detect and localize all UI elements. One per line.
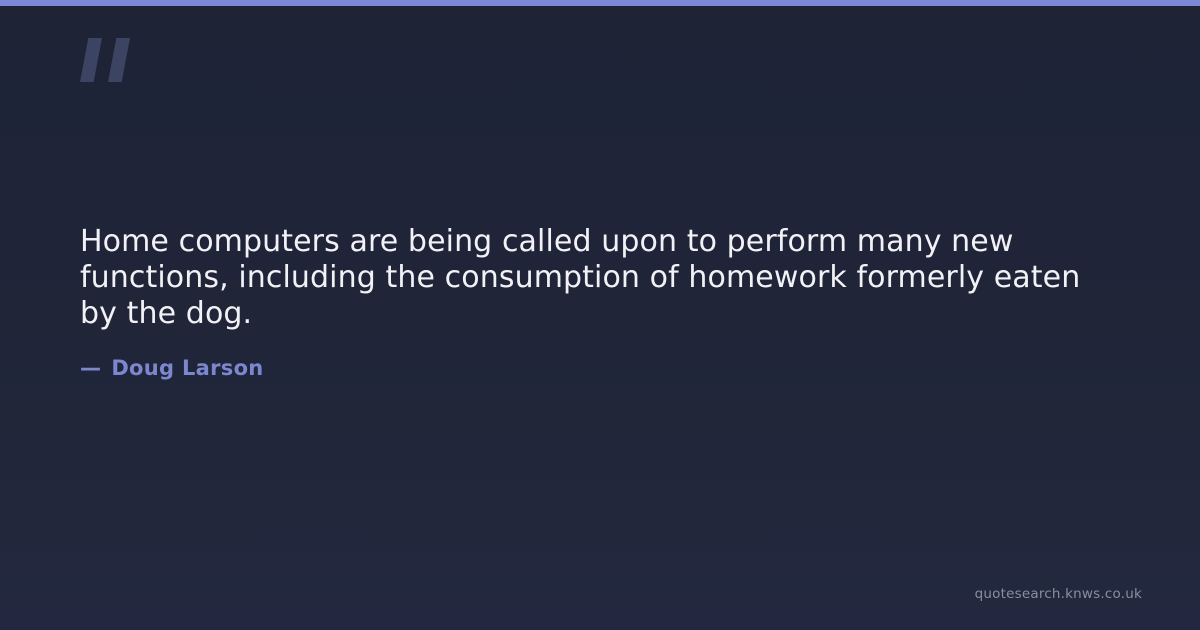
site-watermark: quotesearch.knws.co.uk [975,586,1142,602]
author-name: Doug Larson [111,356,263,380]
quote-glyph-stroke-right [108,38,130,82]
quote-attribution: — Doug Larson [80,356,264,380]
attribution-dash: — [80,356,101,380]
quote-body: Home computers are being called upon to … [80,224,1090,332]
quote-text: Home computers are being called upon to … [80,224,1090,332]
top-accent-bar [0,0,1200,6]
quote-glyph-stroke-left [80,38,102,82]
open-quote-icon [80,38,136,82]
quote-card: Home computers are being called upon to … [0,0,1200,630]
